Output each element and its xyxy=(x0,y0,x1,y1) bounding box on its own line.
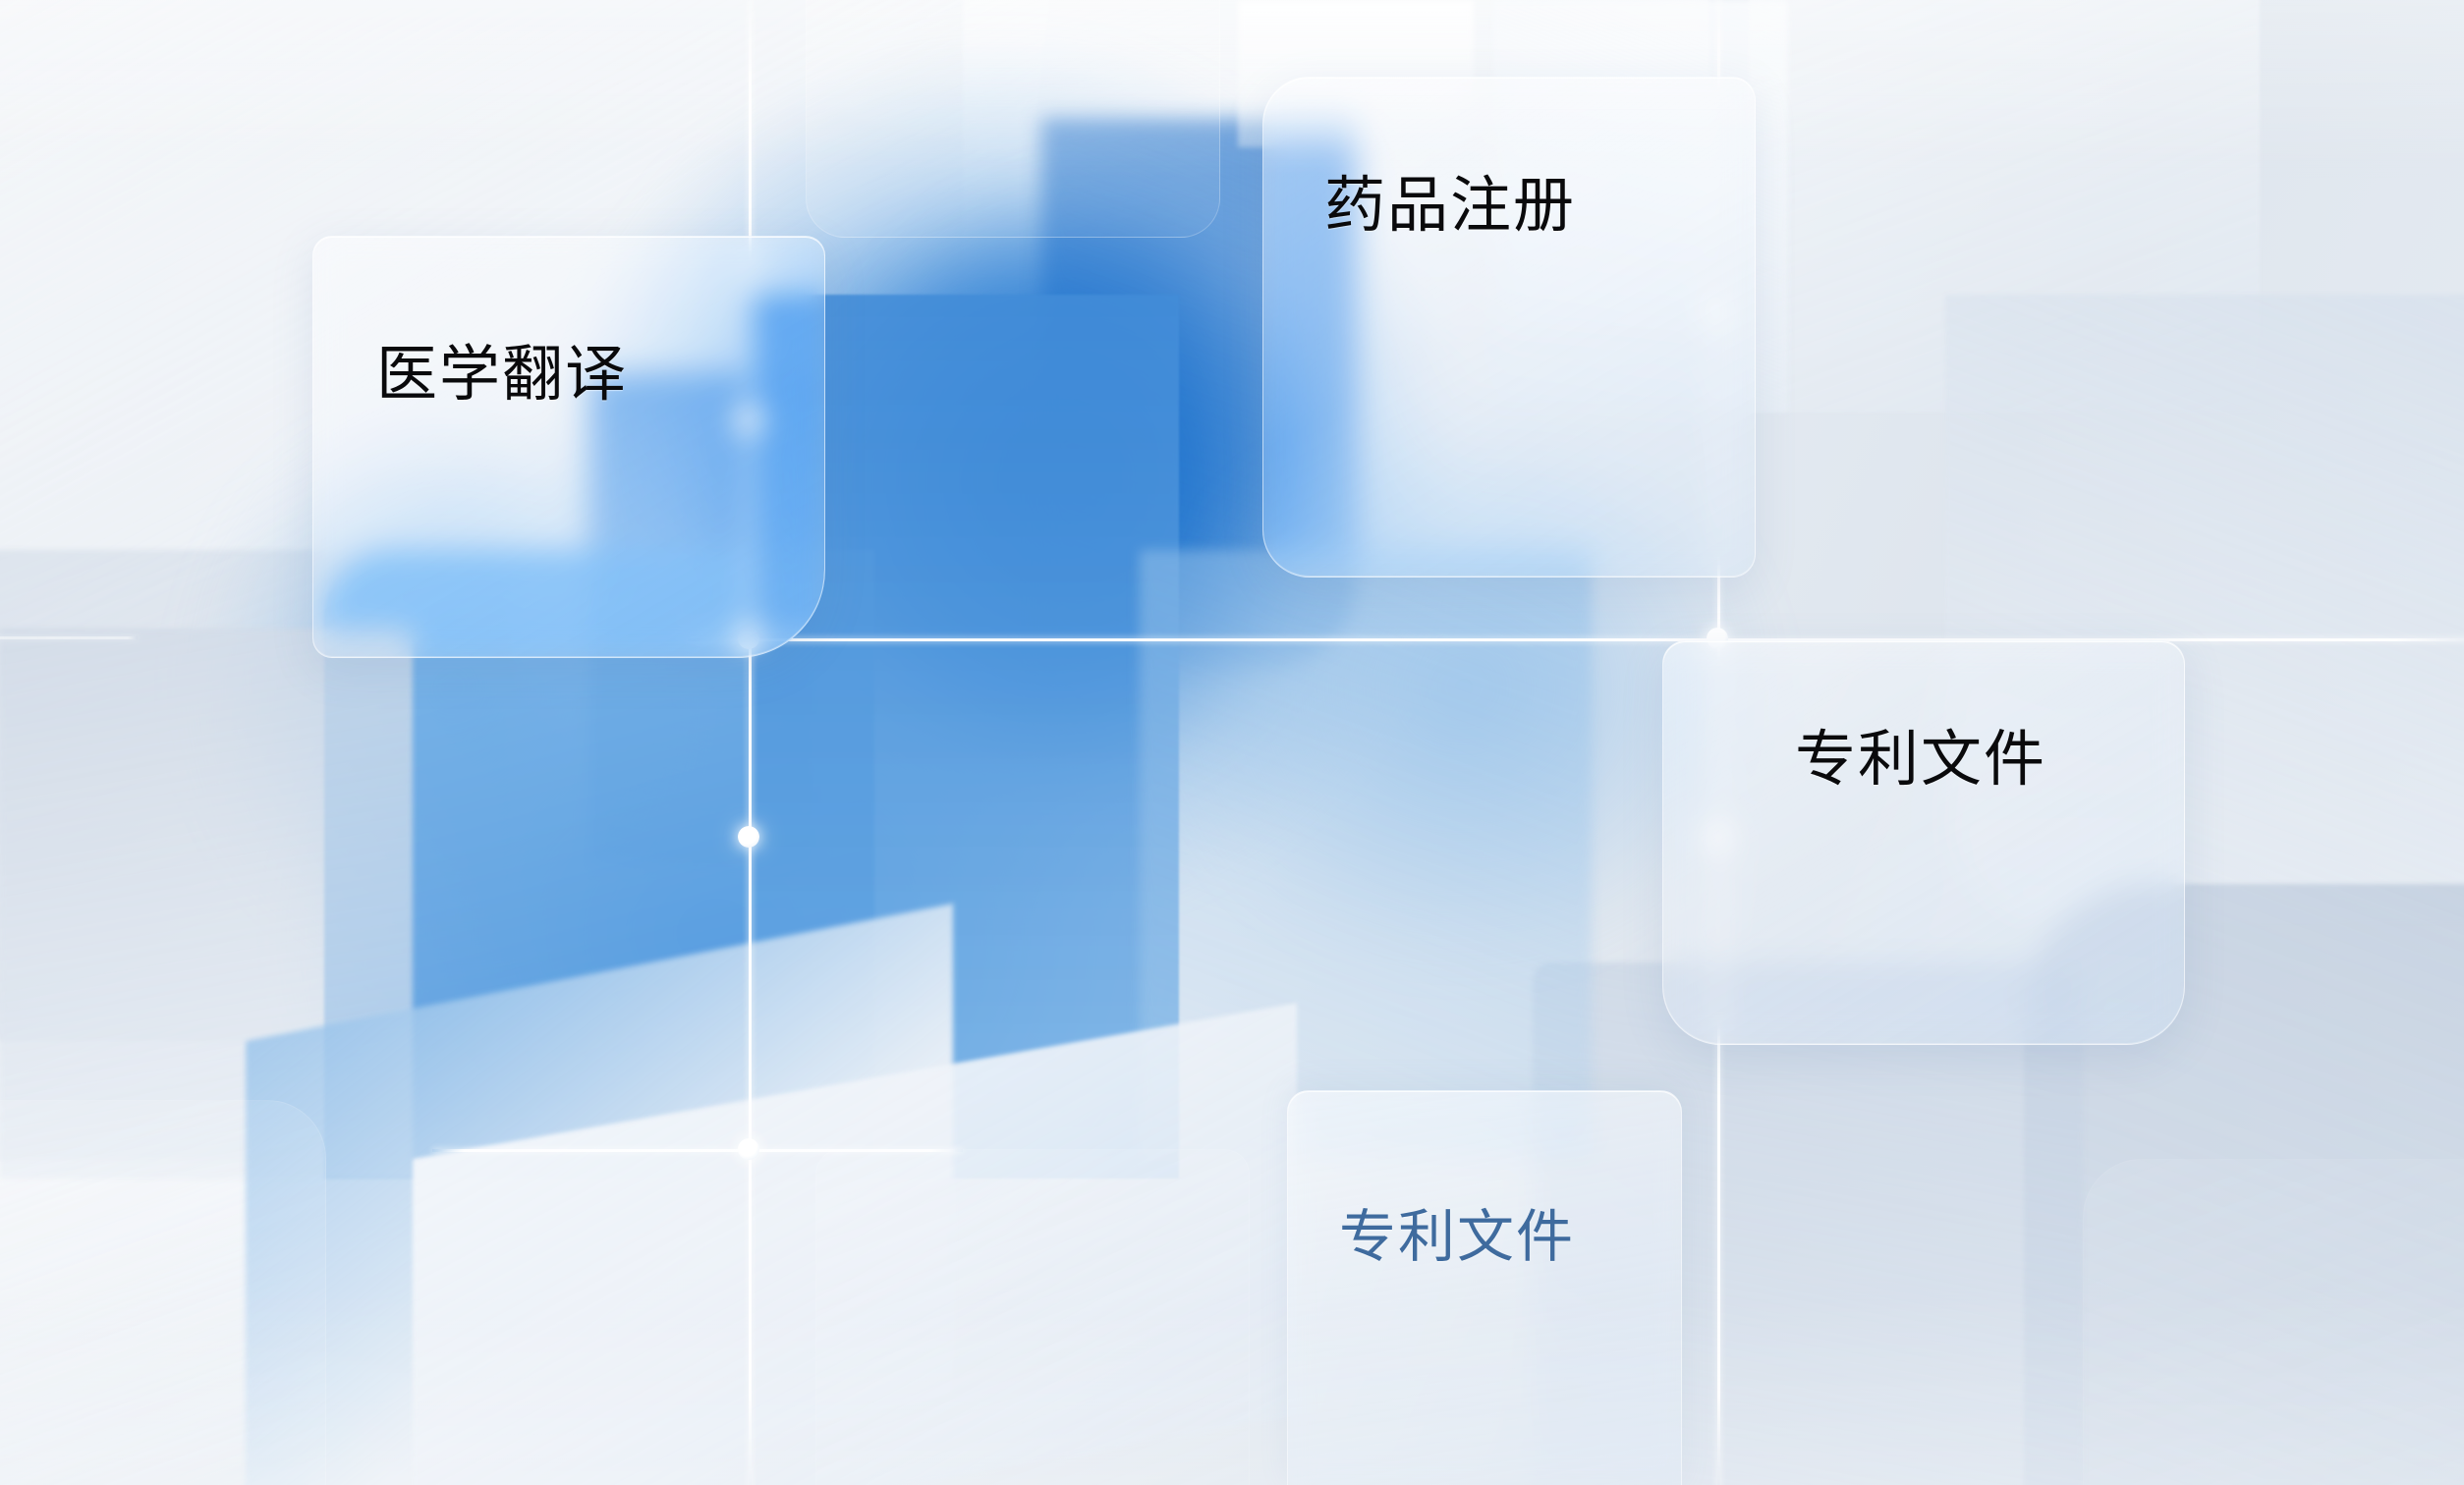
edge-vignette xyxy=(0,0,2464,1485)
scene-canvas: 医学翻译 药品注册 专利文件 专利文件 xyxy=(0,0,2464,1485)
